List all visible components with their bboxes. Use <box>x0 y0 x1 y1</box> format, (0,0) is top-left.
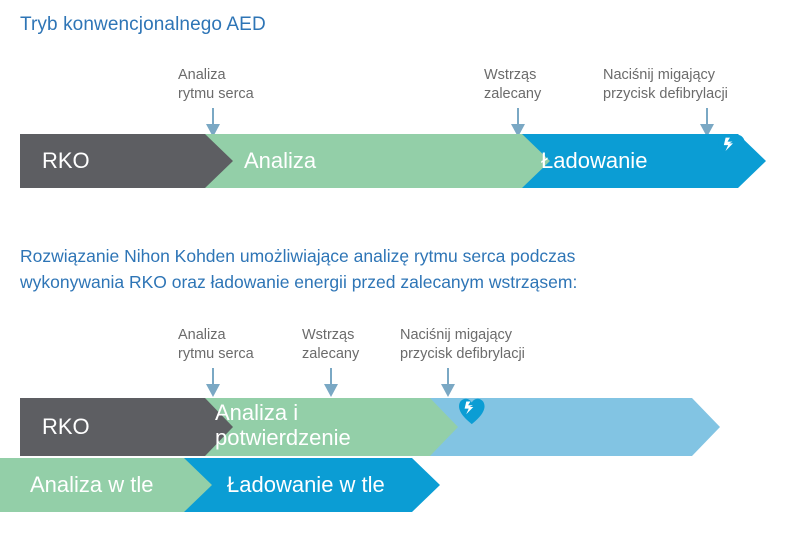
heart-defib-icon-s2 <box>459 399 485 424</box>
callout-line2: zalecany <box>302 345 359 364</box>
bar-label-ladowanie-s1: Ładowanie <box>541 148 647 173</box>
arrow-down-shock-advised-s1 <box>511 108 525 137</box>
callout-shock-advised-s2: Wstrząs zalecany <box>302 326 359 364</box>
arrow-down-shock-advised-s2 <box>324 368 338 397</box>
callout-line1: Analiza <box>178 326 254 345</box>
bar-analiza-s1 <box>185 134 550 188</box>
arrow-down-press-button-s1 <box>700 108 714 137</box>
callout-analysis-s2: Analiza rytmu serca <box>178 326 254 364</box>
bar-label-analiza-potwierdzenie-s2: Analiza i potwierdzenie <box>215 400 351 450</box>
callout-line2: rytmu serca <box>178 85 254 104</box>
callout-line1: Wstrząs <box>484 66 541 85</box>
callout-line2: przycisk defibrylacji <box>603 85 728 104</box>
infographic-canvas: Tryb konwencjonalnego AED Analiza rytmu … <box>0 0 809 543</box>
bar-charged-standby-s2 <box>400 398 720 456</box>
arrow-down-analysis-s2 <box>206 368 220 397</box>
heart-defib-icon-s1 <box>718 135 745 161</box>
callout-line1: Naciśnij migający <box>603 66 728 85</box>
bar-label-analiza-s1: Analiza <box>244 148 316 173</box>
callout-press-button-s1: Naciśnij migający przycisk defibrylacji <box>603 66 728 104</box>
section2-intro-line1: Rozwiązanie Nihon Kohden umożliwiające a… <box>20 243 680 269</box>
callout-line2: rytmu serca <box>178 345 254 364</box>
section1-title: Tryb konwencjonalnego AED <box>20 14 266 36</box>
section2-intro-line2: wykonywania RKO oraz ładowanie energii p… <box>20 269 680 295</box>
callout-line1: Naciśnij migający <box>400 326 525 345</box>
bar-label-rko-s2: RKO <box>42 414 90 439</box>
callout-analysis-s1: Analiza rytmu serca <box>178 66 254 104</box>
section2-intro: Rozwiązanie Nihon Kohden umożliwiające a… <box>20 243 680 295</box>
arrow-down-analysis-s1 <box>206 108 220 137</box>
arrow-down-press-button-s2 <box>441 368 455 397</box>
callout-line1: Wstrząs <box>302 326 359 345</box>
callout-line1: Analiza <box>178 66 254 85</box>
callout-line2: zalecany <box>484 85 541 104</box>
callout-shock-advised-s1: Wstrząs zalecany <box>484 66 541 104</box>
bar-label-rko-s1: RKO <box>42 148 90 173</box>
callout-press-button-s2: Naciśnij migający przycisk defibrylacji <box>400 326 525 364</box>
bar-label-analiza-w-tle-s2: Analiza w tle <box>30 472 154 497</box>
callout-line2: przycisk defibrylacji <box>400 345 525 364</box>
bar-label-ladowanie-w-tle-s2: Ładowanie w tle <box>227 472 385 497</box>
